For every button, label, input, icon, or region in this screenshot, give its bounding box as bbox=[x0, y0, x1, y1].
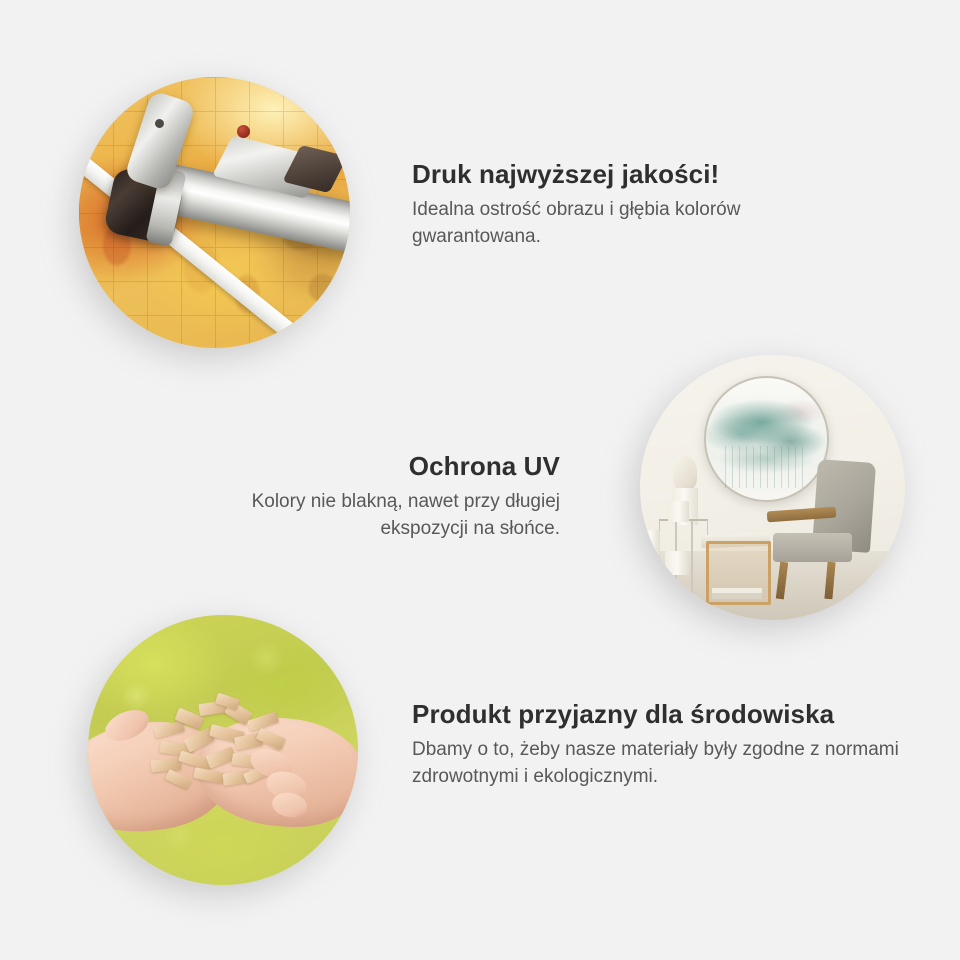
hands-with-wood-chips-photo bbox=[88, 615, 358, 885]
candle-top bbox=[668, 501, 689, 522]
red-knob bbox=[237, 125, 250, 138]
round-forest-artwork bbox=[704, 376, 830, 502]
stacked-books bbox=[712, 588, 762, 599]
wood-chip bbox=[256, 728, 286, 750]
armchair-seat bbox=[773, 533, 853, 562]
feature-title-eco-friendly: Produkt przyjazny dla środowiska bbox=[412, 700, 922, 730]
feature-title-uv-protection: Ochrona UV bbox=[160, 452, 560, 482]
feature-title-print-quality: Druk najwyższej jakości! bbox=[412, 160, 842, 190]
wood-chip bbox=[165, 769, 192, 790]
candle-left bbox=[641, 530, 660, 557]
feature-description-eco-friendly: Dbamy o to, żeby nasze materiały były zg… bbox=[412, 737, 922, 791]
feature-text-eco-friendly: Produkt przyjazny dla środowiska Dbamy o… bbox=[412, 700, 922, 791]
wood-chip bbox=[150, 757, 181, 772]
mug-on-armrest bbox=[802, 501, 815, 512]
feature-image-eco-friendly bbox=[88, 615, 358, 885]
candle-middle bbox=[665, 551, 689, 575]
promo-features-page: Druk najwyższej jakości! Idealna ostrość… bbox=[0, 0, 960, 960]
feature-text-print-quality: Druk najwyższej jakości! Idealna ostrość… bbox=[412, 160, 842, 251]
wood-chip bbox=[153, 720, 184, 738]
artwork-drip-texture bbox=[725, 446, 808, 487]
printer-roller-photo bbox=[79, 77, 350, 348]
feature-description-uv-protection: Kolory nie blakną, nawet przy długiej ek… bbox=[160, 489, 560, 543]
interior-room-photo bbox=[640, 355, 905, 620]
feature-image-uv-protection bbox=[640, 355, 905, 620]
feature-description-print-quality: Idealna ostrość obrazu i głębia kolorów … bbox=[412, 197, 842, 251]
feature-text-uv-protection: Ochrona UV Kolory nie blakną, nawet przy… bbox=[160, 452, 560, 543]
wood-chip bbox=[194, 767, 225, 784]
feature-image-print-quality bbox=[79, 77, 350, 348]
plaster-bust-sculpture bbox=[673, 456, 697, 490]
